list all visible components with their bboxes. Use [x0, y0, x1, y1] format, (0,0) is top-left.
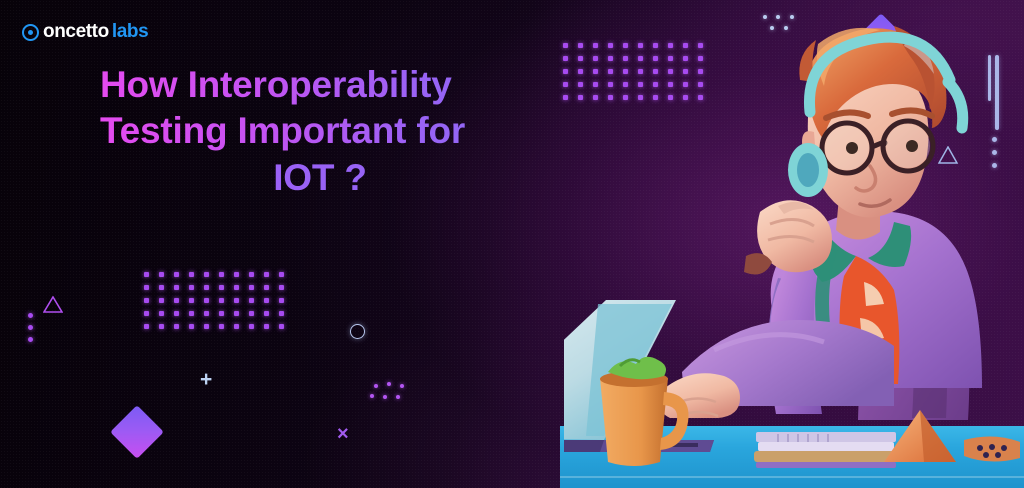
- headline-line-3: IOT ?: [100, 155, 540, 201]
- logo-word-primary: oncetto: [43, 21, 109, 43]
- circle-outline: [350, 324, 365, 339]
- banner-hero: + + ×: [0, 0, 1024, 488]
- diamond-bottom-left: [110, 405, 164, 459]
- headline-line-1: How Interoperability: [100, 62, 540, 108]
- plus-left: +: [200, 369, 212, 390]
- page-title: How Interoperability Testing Important f…: [100, 62, 540, 201]
- dot-cluster-bottom: [370, 382, 410, 404]
- cross-bottom: ×: [337, 424, 349, 444]
- concettolabs-logo[interactable]: oncetto labs: [22, 21, 148, 43]
- triangle-outline-left: [43, 296, 59, 310]
- logo-word-secondary: labs: [112, 21, 148, 43]
- dot-column-left: [28, 313, 40, 347]
- headline-line-2: Testing Important for: [100, 108, 540, 154]
- dot-grid-left: [144, 272, 294, 337]
- at-circle-icon: [22, 24, 39, 41]
- developer-at-laptop-illustration: [564, 0, 1024, 488]
